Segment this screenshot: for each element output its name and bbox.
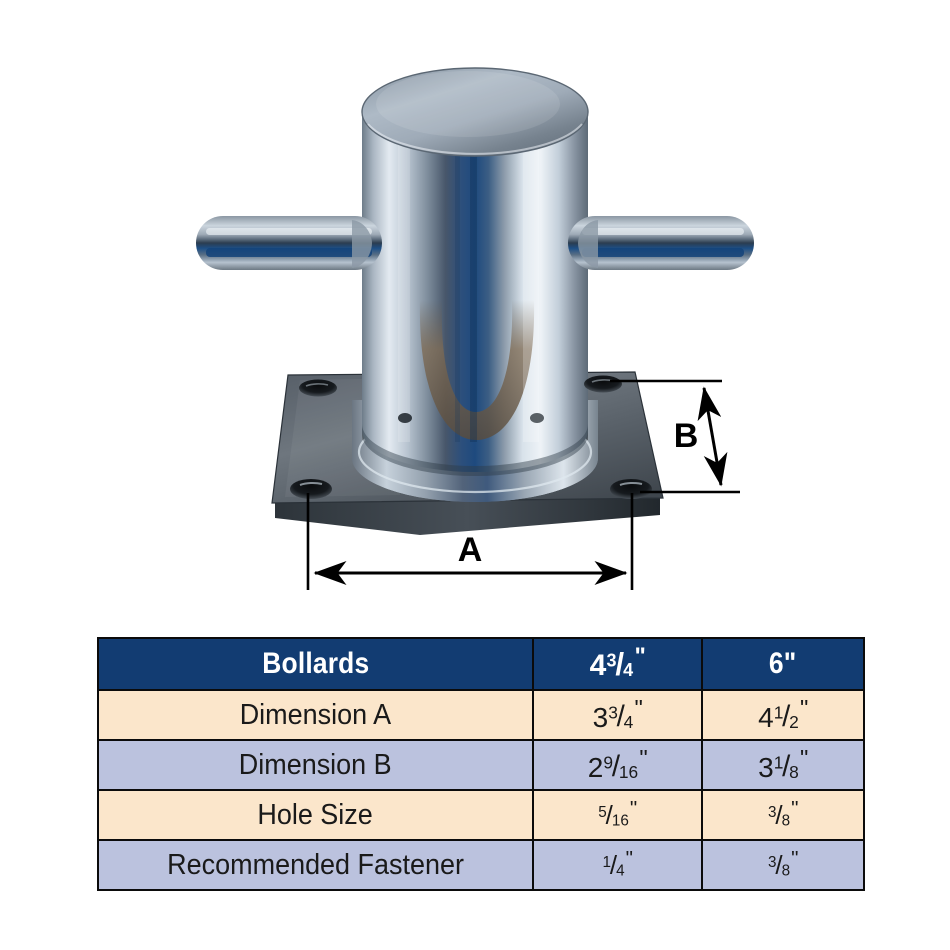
row-label-dimension-a: Dimension A [98, 690, 533, 740]
inch-mark: " [791, 847, 798, 870]
body-detail-mark-right [530, 413, 544, 423]
table-row: Recommended Fastener 1/4" 3/8" [98, 840, 864, 890]
cell-dimension-a-size-1: 33/4" [533, 690, 702, 740]
header-cell-bollards: Bollards [98, 638, 533, 690]
row-label-recommended-fastener: Recommended Fastener [98, 840, 533, 890]
header-size-2-text: 6" [769, 647, 797, 681]
row-label-text: Dimension B [239, 749, 392, 782]
b-dimension-arrow [704, 388, 721, 485]
frac-denominator: 8 [782, 862, 791, 879]
frac-denominator: 4 [623, 660, 633, 680]
row-label-text: Dimension A [240, 699, 391, 732]
frac-denominator: 4 [624, 711, 634, 731]
cross-horn-left-highlight [206, 228, 372, 235]
frac-whole: 4 [590, 649, 607, 682]
mounting-hole-top-left [299, 380, 337, 397]
value-fraction: 31/8" [758, 747, 808, 782]
dimension-label-b: B [674, 417, 699, 455]
bollard-top-cap-sheen [376, 71, 560, 137]
value-fraction: 33/4" [593, 697, 643, 732]
inch-mark: " [626, 847, 633, 870]
table-header-row: Bollards 43/4" 6" [98, 638, 864, 690]
value-fraction: 3/8" [768, 799, 798, 830]
cell-recommended-fastener-size-1: 1/4" [533, 840, 702, 890]
product-figure: B A [0, 0, 950, 625]
mounting-hole-top-right [584, 376, 622, 393]
header-cell-size-4-3-4: 43/4" [533, 638, 702, 690]
table-row: Dimension B 29/16" 31/8" [98, 740, 864, 790]
frac-whole: 3 [593, 701, 609, 732]
cross-horn-right-highlight [582, 228, 744, 235]
frac-denominator: 2 [789, 711, 799, 731]
frac-whole: 3 [758, 751, 774, 782]
value-fraction: 5/16" [598, 799, 637, 830]
cell-hole-size-size-2: 3/8" [702, 790, 864, 840]
frac-whole: 4 [758, 701, 774, 732]
inch-mark: " [635, 643, 646, 670]
bollard-illustration: B A [0, 0, 950, 625]
table-header: Bollards 43/4" 6" [98, 638, 864, 690]
inch-mark: " [639, 745, 647, 771]
cell-recommended-fastener-size-2: 3/8" [702, 840, 864, 890]
cell-dimension-a-size-2: 41/2" [702, 690, 864, 740]
table-row: Dimension A 33/4" 41/2" [98, 690, 864, 740]
inch-mark: " [800, 695, 808, 721]
spec-table-container: Bollards 43/4" 6" Dimension A [97, 637, 863, 891]
table-body: Dimension A 33/4" 41/2" Dimension B [98, 690, 864, 890]
row-label-text: Hole Size [258, 799, 373, 832]
cell-dimension-b-size-2: 31/8" [702, 740, 864, 790]
inch-mark: " [630, 797, 637, 820]
row-label-text: Recommended Fastener [167, 849, 464, 882]
frac-denominator: 16 [612, 812, 629, 829]
header-bollards-text: Bollards [262, 647, 369, 681]
dimension-label-a: A [458, 531, 483, 569]
header-size-1-fraction: 43/4" [590, 645, 646, 681]
row-label-dimension-b: Dimension B [98, 740, 533, 790]
frac-denominator: 8 [782, 812, 791, 829]
table-row: Hole Size 5/16" 3/8" [98, 790, 864, 840]
bollard-dimension-table: Bollards 43/4" 6" Dimension A [97, 637, 865, 891]
value-fraction: 3/8" [768, 849, 798, 880]
value-fraction: 1/4" [602, 849, 632, 880]
value-fraction: 29/16" [588, 747, 647, 782]
cross-horn-left-blue-stripe [206, 248, 372, 257]
frac-denominator: 16 [619, 761, 638, 781]
value-fraction: 41/2" [758, 697, 808, 732]
header-cell-size-6: 6" [702, 638, 864, 690]
cell-hole-size-size-1: 5/16" [533, 790, 702, 840]
frac-denominator: 4 [616, 862, 625, 879]
inch-mark: " [800, 745, 808, 771]
row-label-hole-size: Hole Size [98, 790, 533, 840]
inch-mark: " [791, 797, 798, 820]
cell-dimension-b-size-1: 29/16" [533, 740, 702, 790]
cross-horn-right-blue-stripe [582, 248, 744, 257]
body-detail-mark-left [398, 413, 412, 423]
inch-mark: " [635, 695, 643, 721]
frac-denominator: 8 [789, 761, 799, 781]
bollard-body [352, 68, 598, 502]
frac-whole: 2 [588, 751, 604, 782]
